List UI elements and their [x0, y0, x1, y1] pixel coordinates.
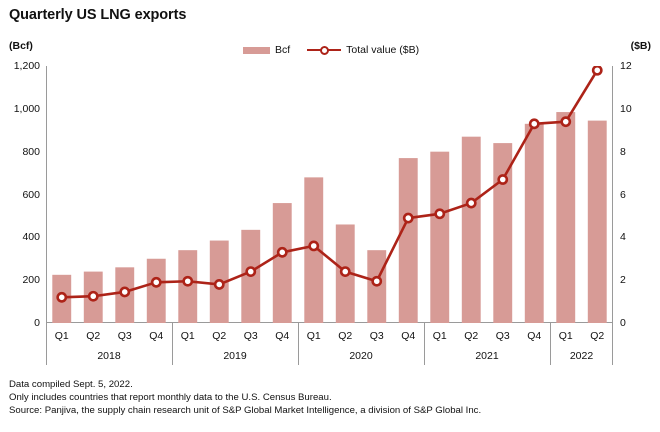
line-marker-10 — [341, 268, 349, 276]
footnote-line-3: Source: Panjiva, the supply chain resear… — [9, 404, 481, 417]
left-axis-unit-label: (Bcf) — [9, 40, 33, 52]
year-group-label-2018: 2018 — [46, 351, 172, 362]
right-axis-tick-labels: 024681012 — [620, 66, 660, 323]
bar-13 — [430, 152, 449, 323]
right-tick-6: 6 — [620, 190, 626, 201]
x-tick-label-3: Q3 — [109, 331, 141, 342]
right-tick-0: 0 — [620, 318, 626, 329]
line-marker-14 — [467, 199, 475, 207]
right-tick-12: 12 — [620, 61, 632, 72]
line-series-total-value — [62, 70, 598, 297]
footnote-line-2: Only includes countries that report mont… — [9, 391, 481, 404]
line-marker-17 — [562, 118, 570, 126]
x-tick-label-6: Q2 — [204, 331, 236, 342]
x-tick-label-8: Q4 — [267, 331, 299, 342]
left-tick-800: 800 — [22, 147, 40, 158]
left-tick-1200: 1,200 — [14, 61, 40, 72]
legend-label-total-value: Total value ($B) — [346, 44, 419, 56]
line-marker-13 — [436, 210, 444, 218]
x-tick-label-14: Q2 — [456, 331, 488, 342]
line-marker-6 — [215, 280, 223, 288]
x-axis: Q1Q2Q3Q4Q1Q2Q3Q4Q1Q2Q3Q4Q1Q2Q3Q4Q1Q22018… — [46, 323, 613, 373]
bar-16 — [525, 124, 544, 323]
bar-14 — [462, 137, 481, 323]
line-marker-18 — [593, 66, 601, 74]
year-group-label-2020: 2020 — [298, 351, 424, 362]
left-tick-400: 400 — [22, 232, 40, 243]
chart-legend: Bcf Total value ($B) — [243, 44, 419, 56]
x-tick-label-10: Q2 — [330, 331, 362, 342]
right-tick-10: 10 — [620, 104, 632, 115]
year-separator-2018 — [46, 323, 47, 365]
left-tick-200: 200 — [22, 275, 40, 286]
year-separator-end — [612, 323, 613, 365]
x-tick-label-13: Q1 — [424, 331, 456, 342]
legend-bar-swatch-icon — [243, 47, 270, 54]
year-separator-2019 — [172, 323, 173, 365]
legend-item-total-value: Total value ($B) — [307, 44, 419, 56]
chart-container: Quarterly US LNG exports (Bcf) ($B) Bcf … — [0, 0, 660, 432]
year-group-label-2019: 2019 — [172, 351, 298, 362]
year-separator-2022 — [550, 323, 551, 365]
bar-18 — [588, 121, 607, 323]
year-group-label-2022: 2022 — [550, 351, 613, 362]
year-separator-2021 — [424, 323, 425, 365]
line-marker-2 — [89, 292, 97, 300]
line-marker-4 — [152, 278, 160, 286]
left-tick-1000: 1,000 — [14, 104, 40, 115]
right-tick-2: 2 — [620, 275, 626, 286]
x-tick-label-12: Q4 — [393, 331, 425, 342]
chart-title: Quarterly US LNG exports — [9, 7, 186, 23]
x-tick-label-17: Q1 — [550, 331, 582, 342]
bar-12 — [399, 158, 418, 323]
legend-label-bcf: Bcf — [275, 44, 290, 56]
line-marker-16 — [530, 120, 538, 128]
footnote-line-1: Data compiled Sept. 5, 2022. — [9, 378, 481, 391]
line-marker-7 — [247, 268, 255, 276]
line-marker-15 — [499, 175, 507, 183]
right-tick-4: 4 — [620, 232, 626, 243]
x-tick-label-18: Q2 — [582, 331, 614, 342]
left-tick-600: 600 — [22, 190, 40, 201]
line-marker-12 — [404, 214, 412, 222]
bar-4 — [147, 259, 166, 323]
line-marker-11 — [373, 277, 381, 285]
line-marker-5 — [184, 277, 192, 285]
x-tick-label-7: Q3 — [235, 331, 267, 342]
x-tick-label-15: Q3 — [487, 331, 519, 342]
line-marker-3 — [121, 288, 129, 296]
right-axis-unit-label: ($B) — [631, 40, 651, 52]
line-marker-1 — [58, 293, 66, 301]
plot-area — [46, 66, 613, 323]
x-tick-label-2: Q2 — [78, 331, 110, 342]
x-tick-label-11: Q3 — [361, 331, 393, 342]
line-marker-9 — [310, 242, 318, 250]
chart-footnotes: Data compiled Sept. 5, 2022.Only include… — [9, 378, 481, 418]
year-separator-2020 — [298, 323, 299, 365]
chart-graphics — [46, 66, 613, 323]
right-tick-8: 8 — [620, 147, 626, 158]
line-marker-8 — [278, 248, 286, 256]
x-tick-label-1: Q1 — [46, 331, 78, 342]
legend-item-bcf: Bcf — [243, 44, 290, 56]
x-tick-label-16: Q4 — [519, 331, 551, 342]
left-tick-0: 0 — [34, 318, 40, 329]
bar-8 — [273, 203, 292, 323]
left-axis-tick-labels: 02004006008001,0001,200 — [0, 66, 40, 323]
x-tick-label-5: Q1 — [172, 331, 204, 342]
bar-17 — [556, 112, 575, 323]
legend-line-marker-icon — [307, 45, 341, 56]
x-tick-label-4: Q4 — [141, 331, 173, 342]
x-tick-label-9: Q1 — [298, 331, 330, 342]
year-group-label-2021: 2021 — [424, 351, 550, 362]
